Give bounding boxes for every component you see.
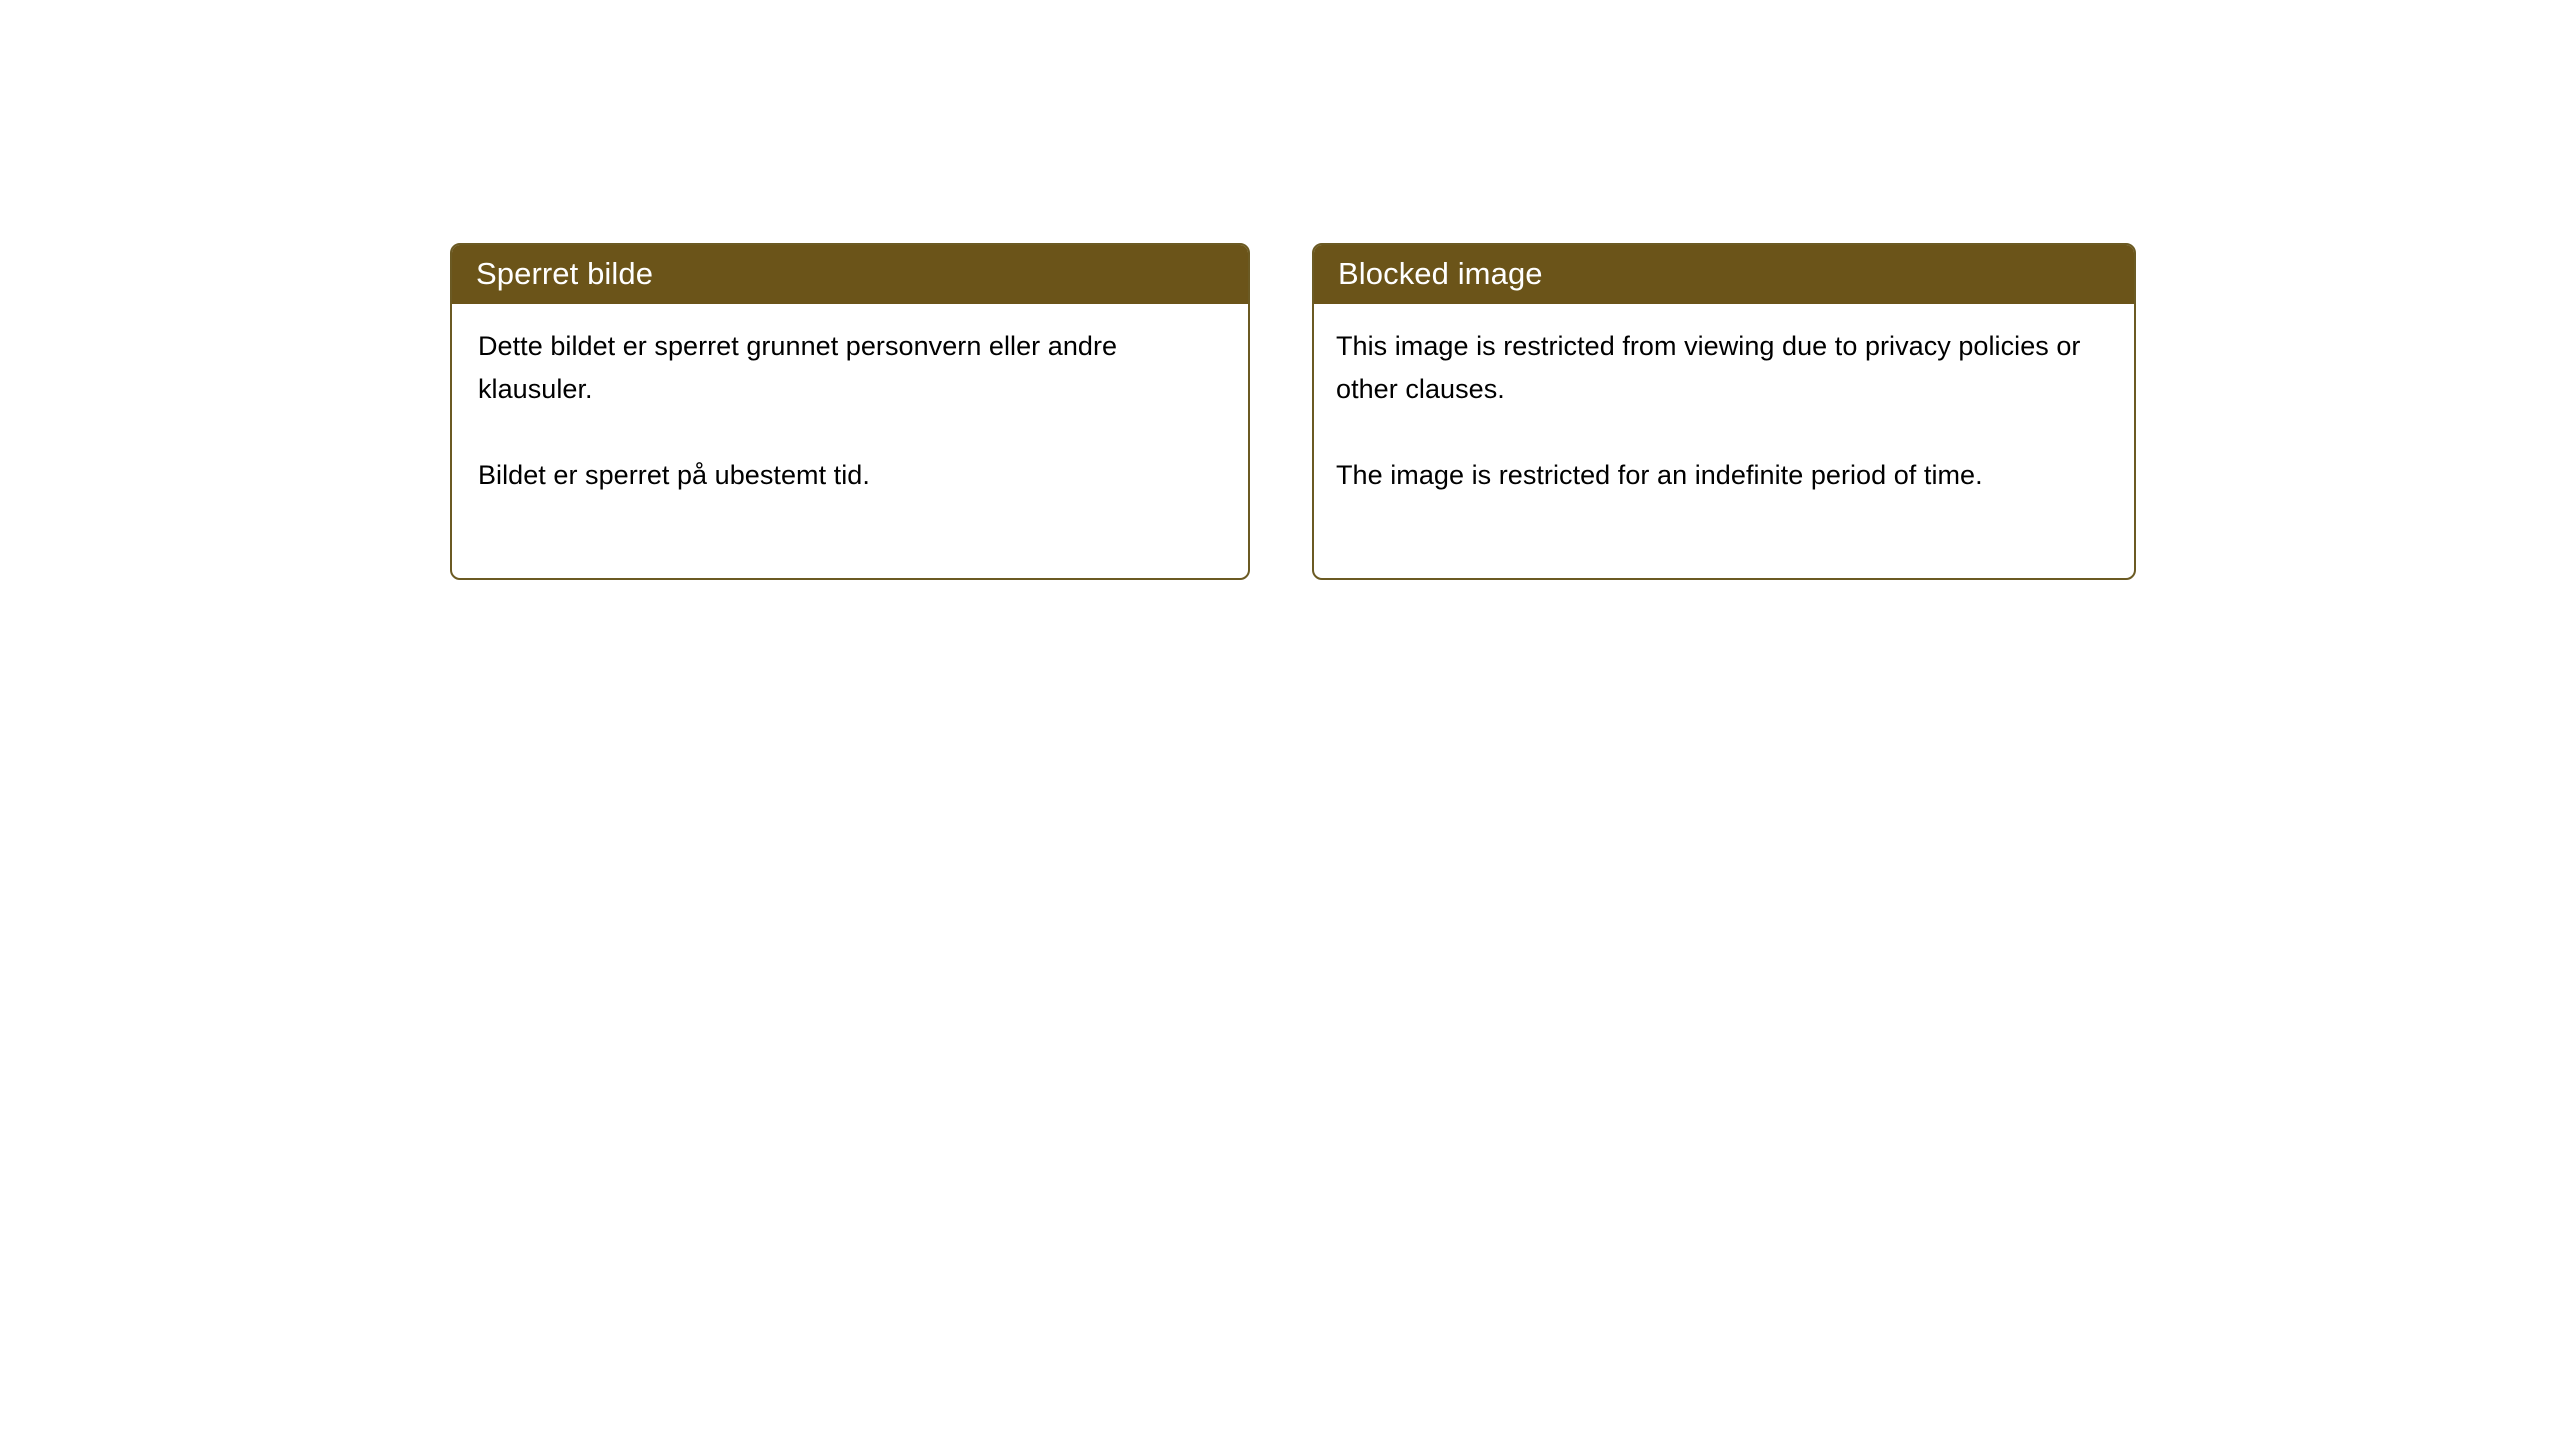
card-paragraph-secondary-english: The image is restricted for an indefinit… (1336, 454, 2112, 497)
card-title-english: Blocked image (1338, 258, 1543, 289)
card-header-norwegian: Sperret bilde (450, 243, 1250, 304)
card-body-norwegian: Dette bildet er sperret grunnet personve… (452, 304, 1248, 578)
card-body-english: This image is restricted from viewing du… (1314, 304, 2134, 578)
card-paragraph-primary-english: This image is restricted from viewing du… (1336, 325, 2112, 411)
blocked-image-card-norwegian: Sperret bilde Dette bildet er sperret gr… (450, 243, 1250, 580)
card-title-norwegian: Sperret bilde (476, 258, 653, 289)
blocked-image-card-english: Blocked image This image is restricted f… (1312, 243, 2136, 580)
card-paragraph-secondary-norwegian: Bildet er sperret på ubestemt tid. (478, 454, 1226, 497)
card-header-english: Blocked image (1312, 243, 2136, 304)
card-paragraph-primary-norwegian: Dette bildet er sperret grunnet personve… (478, 325, 1226, 411)
blocked-image-notice-area: Sperret bilde Dette bildet er sperret gr… (0, 0, 2560, 1440)
